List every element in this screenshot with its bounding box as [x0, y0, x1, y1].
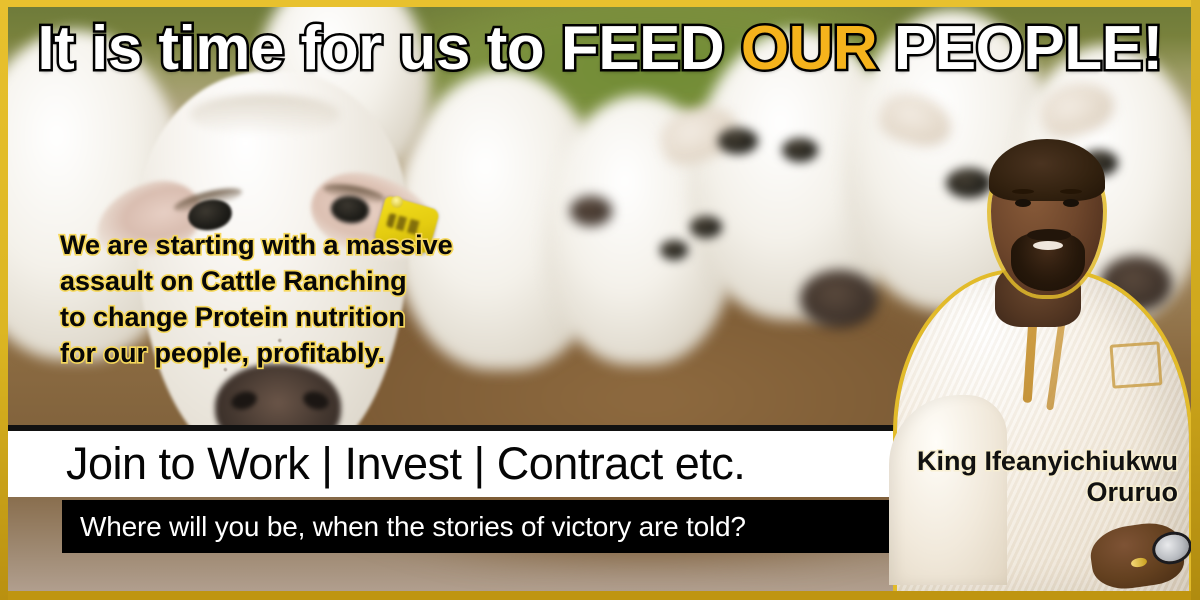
- body-line: assault on Cattle Ranching: [60, 264, 453, 300]
- promotional-banner: It is time for us to FEED OUR PEOPLE! We…: [0, 0, 1200, 600]
- subtitle-bar: Where will you be, when the stories of v…: [62, 500, 895, 553]
- portrait-hair: [989, 139, 1105, 201]
- background-cow-eye: [782, 138, 818, 162]
- portrait-eyebrow-right: [1060, 189, 1082, 194]
- speaker-name-line: King Ifeanyichiukwu: [917, 446, 1178, 477]
- headline-accent-our: OUR: [741, 14, 877, 83]
- portrait-eye-left: [1015, 199, 1031, 207]
- portrait-cutout: [891, 129, 1191, 591]
- subtitle-text: Where will you be, when the stories of v…: [80, 511, 746, 543]
- background-cow-eye: [690, 216, 722, 238]
- headline-feed: FEED: [561, 14, 741, 83]
- cta-bar[interactable]: Join to Work | Invest | Contract etc.: [8, 431, 895, 497]
- speaker-name-line: Oruruo: [917, 477, 1178, 508]
- body-line: We are starting with a massive: [60, 228, 453, 264]
- background-cow-eye: [660, 240, 688, 260]
- portrait-eyebrow-left: [1012, 189, 1034, 194]
- tunic-pocket: [1110, 341, 1163, 388]
- background-cow-eye: [718, 128, 758, 154]
- portrait-eye-right: [1063, 199, 1079, 207]
- speaker-name: King Ifeanyichiukwu Oruruo: [917, 446, 1178, 508]
- portrait-moustache: [1027, 229, 1071, 241]
- portrait-smile: [1033, 241, 1063, 250]
- headline: It is time for us to FEED OUR PEOPLE!: [0, 18, 1200, 80]
- background-cow-muzzle: [570, 196, 612, 226]
- body-line: to change Protein nutrition: [60, 300, 453, 336]
- headline-tail: PEOPLE!: [877, 14, 1162, 83]
- cow-forehead: [190, 94, 340, 136]
- headline-lead: It is time for us to: [37, 14, 560, 83]
- body-line: for our people, profitably.: [60, 336, 453, 372]
- body-copy: We are starting with a massive assault o…: [60, 228, 453, 372]
- background-cow-muzzle: [800, 270, 878, 328]
- cta-text: Join to Work | Invest | Contract etc.: [66, 438, 745, 490]
